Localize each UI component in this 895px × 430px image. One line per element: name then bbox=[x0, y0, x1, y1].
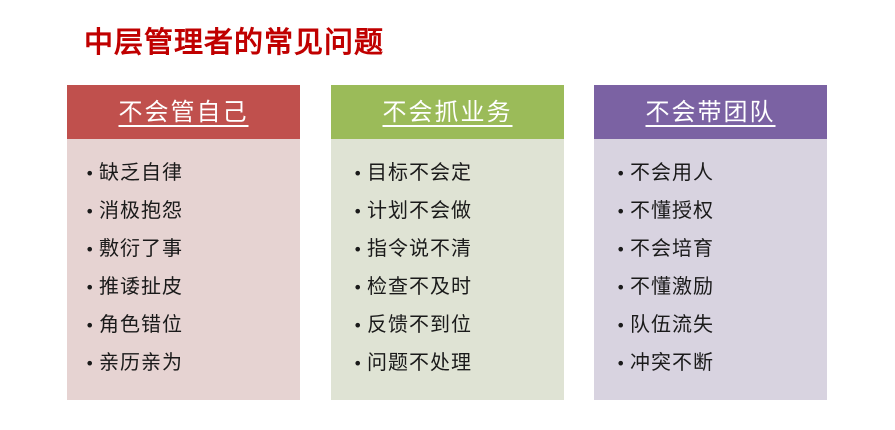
panel-header-business-execution: 不会抓业务 bbox=[331, 85, 564, 139]
list-item: • 指令说不清 bbox=[353, 229, 564, 267]
list-item: • 不会培育 bbox=[616, 229, 827, 267]
panel-header-self-management: 不会管自己 bbox=[67, 85, 300, 139]
list-item: • 计划不会做 bbox=[353, 191, 564, 229]
panel-body-team-leadership: • 不会用人 • 不懂授权 • 不会培育 • 不懂激励 • 队伍流失 bbox=[594, 139, 827, 400]
list-item: • 敷衍了事 bbox=[85, 229, 300, 267]
list-item-label: 敷衍了事 bbox=[99, 229, 183, 267]
list-item: • 消极抱怨 bbox=[85, 191, 300, 229]
bullet-icon: • bbox=[353, 155, 367, 193]
bullet-icon: • bbox=[616, 155, 630, 193]
list-item: • 角色错位 bbox=[85, 305, 300, 343]
item-list-self-management: • 缺乏自律 • 消极抱怨 • 敷衍了事 • 推诿扯皮 • 角色错位 bbox=[85, 153, 300, 381]
list-item-label: 缺乏自律 bbox=[99, 153, 183, 191]
list-item-label: 不懂激励 bbox=[630, 267, 714, 305]
list-item-label: 冲突不断 bbox=[630, 343, 714, 381]
list-item-label: 推诿扯皮 bbox=[99, 267, 183, 305]
bullet-icon: • bbox=[616, 193, 630, 231]
bullet-icon: • bbox=[353, 307, 367, 345]
bullet-icon: • bbox=[85, 269, 99, 307]
panel-body-self-management: • 缺乏自律 • 消极抱怨 • 敷衍了事 • 推诿扯皮 • 角色错位 bbox=[67, 139, 300, 400]
list-item: • 不会用人 bbox=[616, 153, 827, 191]
list-item: • 问题不处理 bbox=[353, 343, 564, 381]
panel-team-leadership: 不会带团队 • 不会用人 • 不懂授权 • 不会培育 • 不懂激励 bbox=[594, 85, 827, 400]
bullet-icon: • bbox=[85, 193, 99, 231]
list-item: • 推诿扯皮 bbox=[85, 267, 300, 305]
list-item: • 检查不及时 bbox=[353, 267, 564, 305]
list-item-label: 指令说不清 bbox=[367, 229, 472, 267]
item-list-business-execution: • 目标不会定 • 计划不会做 • 指令说不清 • 检查不及时 • 反馈不到 bbox=[353, 153, 564, 381]
bullet-icon: • bbox=[616, 307, 630, 345]
list-item-label: 目标不会定 bbox=[367, 153, 472, 191]
bullet-icon: • bbox=[85, 155, 99, 193]
panel-header-team-leadership: 不会带团队 bbox=[594, 85, 827, 139]
list-item: • 冲突不断 bbox=[616, 343, 827, 381]
list-item: • 队伍流失 bbox=[616, 305, 827, 343]
bullet-icon: • bbox=[353, 345, 367, 383]
list-item: • 缺乏自律 bbox=[85, 153, 300, 191]
list-item-label: 不会用人 bbox=[630, 153, 714, 191]
panel-header-label: 不会抓业务 bbox=[383, 97, 513, 127]
list-item: • 目标不会定 bbox=[353, 153, 564, 191]
list-item-label: 问题不处理 bbox=[367, 343, 472, 381]
bullet-icon: • bbox=[616, 345, 630, 383]
list-item: • 亲历亲为 bbox=[85, 343, 300, 381]
list-item-label: 不懂授权 bbox=[630, 191, 714, 229]
list-item: • 不懂激励 bbox=[616, 267, 827, 305]
item-list-team-leadership: • 不会用人 • 不懂授权 • 不会培育 • 不懂激励 • 队伍流失 bbox=[616, 153, 827, 381]
list-item-label: 反馈不到位 bbox=[367, 305, 472, 343]
bullet-icon: • bbox=[353, 193, 367, 231]
list-item: • 不懂授权 bbox=[616, 191, 827, 229]
panel-body-business-execution: • 目标不会定 • 计划不会做 • 指令说不清 • 检查不及时 • 反馈不到 bbox=[331, 139, 564, 400]
list-item-label: 消极抱怨 bbox=[99, 191, 183, 229]
list-item-label: 计划不会做 bbox=[367, 191, 472, 229]
panel-header-label: 不会带团队 bbox=[646, 97, 776, 127]
list-item-label: 不会培育 bbox=[630, 229, 714, 267]
list-item-label: 检查不及时 bbox=[367, 267, 472, 305]
list-item-label: 亲历亲为 bbox=[99, 343, 183, 381]
list-item-label: 队伍流失 bbox=[630, 305, 714, 343]
list-item: • 反馈不到位 bbox=[353, 305, 564, 343]
bullet-icon: • bbox=[85, 345, 99, 383]
panel-header-label: 不会管自己 bbox=[119, 97, 249, 127]
panel-business-execution: 不会抓业务 • 目标不会定 • 计划不会做 • 指令说不清 • 检查不及时 bbox=[331, 85, 564, 400]
slide-canvas: 中层管理者的常见问题 不会管自己 • 缺乏自律 • 消极抱怨 • 敷衍了事 bbox=[0, 0, 895, 430]
list-item-label: 角色错位 bbox=[99, 305, 183, 343]
bullet-icon: • bbox=[85, 231, 99, 269]
page-title: 中层管理者的常见问题 bbox=[84, 22, 384, 62]
bullet-icon: • bbox=[616, 231, 630, 269]
bullet-icon: • bbox=[353, 231, 367, 269]
bullet-icon: • bbox=[616, 269, 630, 307]
bullet-icon: • bbox=[85, 307, 99, 345]
panel-self-management: 不会管自己 • 缺乏自律 • 消极抱怨 • 敷衍了事 • 推诿扯皮 bbox=[67, 85, 300, 400]
bullet-icon: • bbox=[353, 269, 367, 307]
